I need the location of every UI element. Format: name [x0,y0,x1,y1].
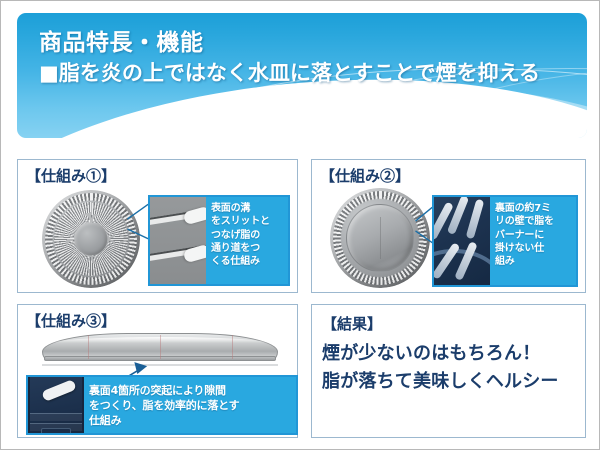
protrusion-photo [28,377,84,433]
page-subtitle: ■脂を炎の上ではなく水皿に落とすことで煙を抑える [39,58,540,88]
callout-line: 通り道をつ [211,242,284,255]
block-foot [41,428,71,433]
protrusion-tab [41,379,77,402]
result-line-2: 脂が落ちて美味しくヘルシー [322,367,559,393]
block-ledge-1 [30,413,82,421]
callout-line: 掛けない仕 [495,242,572,255]
disc-seam-line [380,217,381,259]
header-banner: 商品特長・機能 ■脂を炎の上ではなく水皿に落とすことで煙を抑える [17,13,587,138]
slit-opening-1 [183,206,206,226]
panel-1-title: 【仕組み①】 [26,165,116,186]
rib-3 [466,199,485,240]
result-line-1: 煙が少ないのはもちろん！ [322,339,540,365]
callout-line: 表面の溝 [211,202,284,215]
panel-3-inset-group: 裏面4箇所の突起により隙間 をつくり、脂を効率的に落とす 仕組み [26,375,298,435]
rib-wall-photo [434,197,490,285]
surface-groove-photo [150,197,206,284]
grill-plate-top-image [42,190,140,288]
page-title: 商品特長・機能 [39,29,540,58]
callout-line: 裏面4箇所の突起により隙間 [89,383,291,398]
panel-mechanism-3: 【仕組み③】 裏面 [17,304,298,438]
callout-line: バーナーに [495,229,572,242]
profile-shadow [42,364,278,366]
profile-tick [232,335,233,359]
callout-line: 裏面の約7ミ [495,202,572,215]
slit-opening-2 [183,244,206,264]
panel-3-callout: 裏面4箇所の突起により隙間 をつくり、脂を効率的に落とす 仕組み [84,377,296,433]
result-title: 【結果】 [322,313,382,334]
profile-tick [88,335,89,359]
panel-1-inset-group: 表面の溝 をスリットと つなげ脂の 通り道をつ くる仕組み [148,195,290,286]
callout-line: をスリットと [211,215,284,228]
profile-tick [160,335,161,359]
panel-result: 【結果】 煙が少ないのはもちろん！ 脂が落ちて美味しくヘルシー [311,304,586,438]
callout-line: 仕組み [89,413,291,428]
panel-1-callout: 表面の溝 をスリットと つなげ脂の 通り道をつ くる仕組み [206,197,288,284]
callout-line: リの壁で脂を [495,215,572,228]
panel-2-title: 【仕組み②】 [320,165,410,186]
header-text-group: 商品特長・機能 ■脂を炎の上ではなく水皿に落とすことで煙を抑える [39,29,540,88]
panel-3-title: 【仕組み③】 [26,310,116,331]
slide-root: 商品特長・機能 ■脂を炎の上ではなく水皿に落とすことで煙を抑える 【仕組み①】 [0,0,600,450]
panel-mechanism-1: 【仕組み①】 表面の溝 をスリットと つなげ脂の 通り道をつ くる [17,159,298,293]
callout-line: をつくり、脂を効率的に落とす [89,398,291,413]
panel-mechanism-2: 【仕組み②】 裏面の約7ミ リの壁で脂を バ [311,159,586,293]
protrusion-block [30,377,82,433]
callout-line: つなげ脂の [211,229,284,242]
callout-line: 組み [495,255,572,268]
panel-2-callout: 裏面の約7ミ リの壁で脂を バーナーに 掛けない仕 組み [490,197,576,285]
grill-plate-side-profile-image [42,333,278,367]
grill-plate-bottom-image [330,188,430,288]
callout-line: くる仕組み [211,255,284,268]
panel-2-inset-group: 裏面の約7ミ リの壁で脂を バーナーに 掛けない仕 組み [432,195,578,287]
disc-smooth-center [346,204,414,272]
